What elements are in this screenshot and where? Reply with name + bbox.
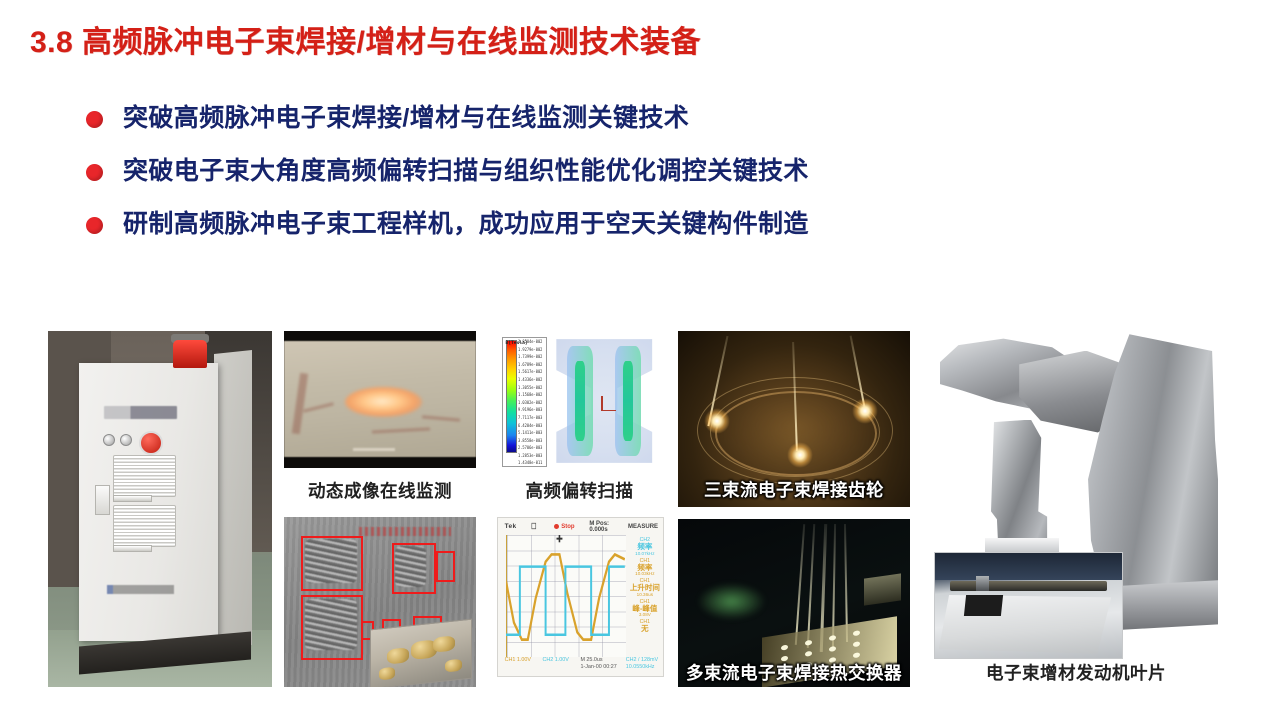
- measurement-item: CH1 峰-峰值 3.08V: [627, 597, 663, 618]
- menu-title: MEASURE: [628, 524, 658, 530]
- legend-tick: 5.1411e-003: [518, 431, 542, 435]
- colorbar-gradient: [506, 340, 517, 453]
- legend-tick: 1.4336e-002: [518, 378, 542, 382]
- warning-beacon-light: [173, 340, 207, 368]
- bullet-dot-icon: [86, 111, 103, 128]
- slide-root: 3.8 高频脉冲电子束焊接/增材与在线监测技术装备 突破高频脉冲电子束焊接/增材…: [0, 0, 1268, 704]
- measurement-item: CH1 上升时间 10.36us: [627, 576, 663, 597]
- measurement-item: CH2 频率 10.07kHz: [627, 535, 663, 556]
- page-title: 3.8 高频脉冲电子束焊接/增材与在线监测技术装备: [30, 17, 701, 61]
- scope-brand: Tek: [505, 523, 517, 530]
- detection-box: [301, 595, 363, 660]
- bullet-dot-icon: [86, 217, 103, 234]
- door-handle: [113, 545, 152, 551]
- powder-bed-machine-inset: [934, 552, 1123, 659]
- small-blade: [985, 420, 1059, 551]
- streak: [291, 373, 307, 434]
- bullet-item: 研制高频脉冲电子束工程样机，成功应用于空天关键构件制造: [86, 210, 1146, 239]
- streak: [422, 416, 461, 423]
- legend-tick-values: 1.8504e-0021.9279e-0021.7399e-0021.6789e…: [517, 338, 546, 467]
- measurement-item: CH1 频率 10.03kHz: [627, 556, 663, 577]
- figure-defect-detection: [284, 517, 476, 687]
- trigger-frequency: 10.0550kHz: [626, 664, 655, 670]
- simulated-part: [550, 337, 659, 466]
- legend-tick: 1.0302e-002: [518, 401, 542, 405]
- legend-tick: 1.1568e-002: [518, 393, 542, 397]
- horizontal-position: M Pos: 0.000s: [589, 521, 628, 533]
- bullet-text: 研制高频脉冲电子束工程样机，成功应用于空天关键构件制造: [123, 210, 809, 239]
- detection-box: [392, 543, 436, 595]
- machine-rod: [976, 576, 989, 591]
- legend-tick: 1.3055e-002: [518, 386, 542, 390]
- legend-tick: 6.4204e-003: [518, 424, 542, 428]
- axis-indicator-icon: [601, 396, 616, 411]
- bullet-item: 突破电子束大角度高频偏转扫描与组织性能优化调控关键技术: [86, 157, 1146, 186]
- caption-deflection-scan: 高频偏转扫描: [497, 478, 662, 503]
- cabinet-front-panel: [79, 363, 218, 641]
- monitoring-frame: [284, 341, 476, 457]
- colorbar-legend: B[Tesla] 1.8504e-0021.9279e-0021.7399e-0…: [502, 337, 547, 468]
- cabinet-nameplate-text: [104, 406, 176, 418]
- legend-tick: 7.7117e-003: [518, 416, 542, 420]
- ch1-scale: CH1 1.00V: [505, 657, 531, 663]
- bullet-dot-icon: [86, 164, 103, 181]
- figure-power-supply-cabinet: [48, 331, 272, 687]
- specimen-part: [445, 659, 462, 673]
- figure-gear-welding: 三束流电子束焊接齿轮: [678, 331, 910, 507]
- figure-heat-exchanger: 多束流电子束焊接热交换器: [678, 519, 910, 687]
- legend-tick: 2.5706e-003: [518, 446, 542, 450]
- ventilation-grille: [113, 505, 176, 547]
- door-lock-plate: [95, 485, 110, 515]
- legend-tick: 9.9196e-003: [518, 408, 542, 412]
- scope-status-bar: CH1 1.00V CH2 1.00V M 25.0us 1-Jan-00 00…: [498, 656, 663, 676]
- trigger-source: CH2 / 128mV: [626, 657, 658, 663]
- legend-tick: 1.6789e-002: [518, 363, 542, 367]
- legend-tick: 1.4348e-011: [518, 461, 542, 465]
- caption-engine-blades: 电子束增材发动机叶片: [934, 660, 1218, 685]
- figure-dynamic-imaging: [284, 331, 476, 468]
- measurement-item: CH1 无: [627, 617, 663, 633]
- door-handle: [113, 495, 152, 501]
- run-state: Stop: [561, 524, 574, 530]
- specimen-part: [433, 635, 455, 652]
- bullet-list: 突破高频脉冲电子束焊接/增材与在线监测关键技术 突破电子束大角度高频偏转扫描与组…: [86, 104, 1146, 262]
- bullet-item: 突破高频脉冲电子束焊接/增材与在线监测关键技术: [86, 104, 1146, 133]
- institute-logo: [107, 585, 174, 594]
- specimen-photo-inset: [370, 618, 472, 687]
- specimen-part: [379, 667, 395, 680]
- ventilation-grille: [113, 455, 176, 497]
- legend-tick: 1.7399e-002: [518, 355, 542, 359]
- trigger-block: CH2 / 128mV 10.0550kHz: [626, 657, 658, 671]
- stop-indicator-icon: [554, 524, 559, 529]
- specimen-part: [387, 647, 409, 664]
- legend-tick: 3.8558e-003: [518, 439, 542, 443]
- scope-top-bar: Tek ⎕ Stop M Pos: 0.000s MEASURE: [498, 518, 663, 535]
- streak: [372, 428, 430, 434]
- legend-tick: 1.8504e-002: [518, 340, 542, 344]
- measure-label: 频率: [627, 564, 663, 572]
- legend-tick: 1.5617e-002: [518, 370, 542, 374]
- measure-label: 峰-峰值: [627, 605, 663, 613]
- control-knob: [103, 434, 115, 446]
- measurement-panel: CH2 频率 10.07kHz CH1 频率 10.03kHz CH1 上升时间…: [627, 535, 663, 657]
- timebase: M 25.0us: [580, 657, 602, 663]
- molten-pool-glow: [345, 387, 422, 417]
- detection-box: [436, 551, 455, 582]
- field-core-right: [623, 361, 633, 441]
- cabinet-side-panel: [214, 350, 252, 649]
- fixture-block: [864, 574, 901, 606]
- weld-spark: [704, 408, 730, 434]
- datetime: 1-Jan-00 00:27: [580, 664, 616, 670]
- figure-engine-blades: [934, 331, 1218, 659]
- weld-spark: [852, 398, 878, 424]
- frame-bottom-bar: [353, 448, 395, 451]
- waveform-traces: [506, 535, 625, 657]
- caption-heat-exchanger: 多束流电子束焊接热交换器: [678, 660, 910, 685]
- figure-deflection-simulation: B[Tesla] 1.8504e-0021.9279e-0021.7399e-0…: [497, 331, 662, 471]
- streak: [303, 402, 334, 413]
- measure-label: 上升时间: [627, 584, 663, 592]
- measure-label: 无: [627, 625, 663, 633]
- measure-label: 频率: [627, 543, 663, 551]
- caption-dynamic-imaging: 动态成像在线监测: [284, 478, 476, 503]
- timebase-block: M 25.0us 1-Jan-00 00:27: [580, 657, 616, 671]
- ch2-scale: CH2 1.00V: [543, 657, 569, 663]
- bullet-text: 突破高频脉冲电子束焊接/增材与在线监测关键技术: [123, 104, 689, 133]
- control-knob: [120, 434, 132, 446]
- weld-spark: [787, 442, 813, 468]
- recoater-bar: [950, 581, 1107, 590]
- emergency-stop-button: [139, 431, 163, 455]
- legend-tick: 1.9279e-002: [518, 348, 542, 352]
- caption-gear-welding: 三束流电子束焊接齿轮: [678, 477, 910, 502]
- field-core-left: [575, 361, 585, 441]
- figure-oscilloscope: Tek ⎕ Stop M Pos: 0.000s MEASURE CH2 频率 …: [497, 517, 664, 677]
- legend-tick: 1.2853e-003: [518, 454, 542, 458]
- annotation-label: [359, 527, 451, 536]
- bullet-text: 突破电子束大角度高频偏转扫描与组织性能优化调控关键技术: [123, 157, 809, 186]
- machine-top-shroud: [935, 553, 1122, 580]
- trigger-waveform-icon: ⎕: [531, 522, 536, 532]
- detection-box: [301, 536, 363, 591]
- build-area: [964, 595, 1004, 616]
- green-glow: [697, 583, 767, 620]
